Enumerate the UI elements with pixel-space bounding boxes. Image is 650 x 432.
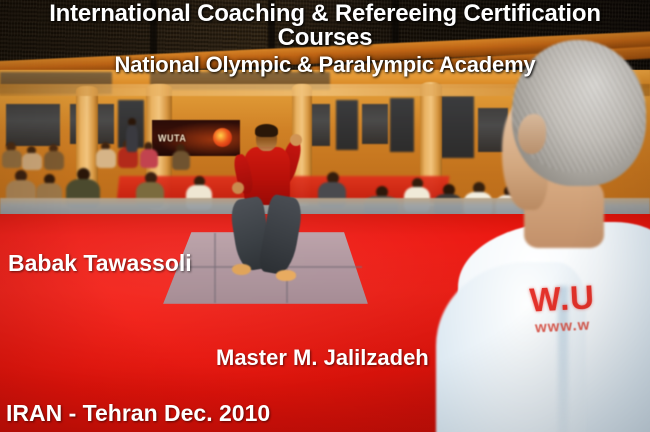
- demonstrator-left-fist: [232, 182, 244, 194]
- hall-window: [362, 104, 388, 144]
- caption-babak-tawassoli: Babak Tawassoli: [8, 250, 192, 277]
- seated-person: [44, 144, 64, 170]
- demonstrator-left-foot: [232, 264, 251, 275]
- demonstrator-right-foot: [276, 270, 296, 281]
- foreground-observer: W.U www.w: [466, 36, 650, 432]
- hall-curtain: [390, 98, 414, 152]
- seated-person: [96, 142, 116, 168]
- title-line-1: International Coaching & Refereeing Cert…: [0, 0, 650, 51]
- caption-location-date: IRAN - Tehran Dec. 2010: [6, 400, 270, 427]
- hall-curtain: [336, 100, 358, 150]
- demonstrator-right-fist: [290, 134, 302, 146]
- caption-master-jalilzadeh: Master M. Jalilzadeh: [216, 345, 429, 371]
- person-body: [96, 149, 116, 168]
- seated-person: [22, 146, 42, 170]
- demonstrator-hair: [255, 124, 278, 137]
- photo-slide: WUTA: [0, 0, 650, 432]
- title-line-2: National Olympic & Paralympic Academy: [0, 51, 650, 76]
- demonstrator-figure: [232, 124, 314, 282]
- seated-person: [2, 142, 22, 168]
- hall-window: [6, 104, 60, 146]
- person-body: [44, 151, 64, 170]
- person-body: [140, 149, 158, 168]
- person-body: [172, 151, 190, 170]
- seated-person: [140, 142, 158, 168]
- shirt-logo-text: W.U: [529, 276, 650, 316]
- standing-person: [126, 118, 138, 152]
- person-body: [2, 150, 22, 168]
- slide-title: International Coaching & Refereeing Cert…: [0, 0, 650, 76]
- shirt-print: W.U www.w: [529, 276, 650, 335]
- banner-label: WUTA: [158, 132, 186, 144]
- wuta-banner: WUTA: [152, 120, 240, 156]
- wuta-logo-icon: [213, 128, 232, 147]
- observer-ear: [518, 114, 546, 154]
- demonstrator-right-leg: [257, 194, 304, 277]
- person-body: [22, 153, 42, 170]
- mat-seam: [214, 233, 216, 303]
- person-body: [126, 125, 138, 152]
- seated-person: [172, 144, 190, 170]
